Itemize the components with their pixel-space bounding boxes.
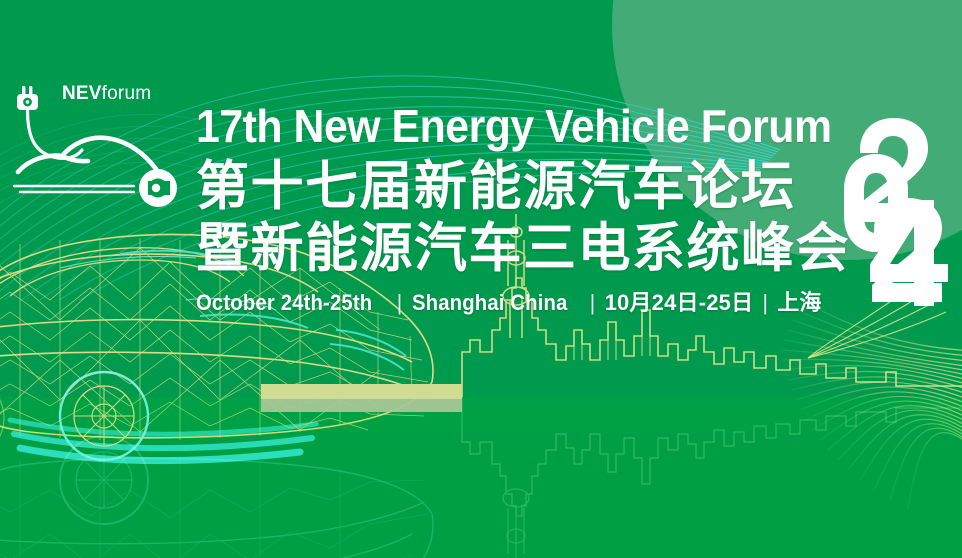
logo-word-light: forum <box>102 83 152 104</box>
speed-lines-icon <box>14 186 134 192</box>
headline-block: 17th New Energy Vehicle Forum 第十七届新能源汽车论… <box>196 100 846 316</box>
title-english: 17th New Energy Vehicle Forum <box>196 100 801 152</box>
event-banner: NEVforum 17th New Energy Vehicle Forum 第… <box>0 0 962 558</box>
location-english: Shanghai China <box>412 290 568 316</box>
event-info-line: October 24th-25th|Shanghai China|10月24日-… <box>196 290 846 316</box>
logo-wordmark: NEVforum <box>62 83 151 105</box>
ground-platform-bar <box>261 384 462 399</box>
water-tint-band <box>0 397 962 558</box>
logo-word-bold: NEV <box>62 83 102 104</box>
charging-cable-icon <box>28 110 83 158</box>
date-english: October 24th-25th <box>196 290 372 316</box>
wheel-icon <box>139 169 177 207</box>
date-chinese: 10月24日-25日 <box>605 290 754 316</box>
charging-plug-icon <box>17 86 38 110</box>
title-chinese-line-1: 第十七届新能源汽车论坛 <box>196 156 846 218</box>
year-2024-mark <box>838 106 958 314</box>
location-chinese: 上海 <box>777 290 821 316</box>
separator-1: | <box>388 290 412 315</box>
separator-2: | <box>581 290 605 315</box>
title-chinese-line-2: 暨新能源汽车三电系统峰会 <box>196 218 846 280</box>
separator-3: | <box>753 290 777 315</box>
ground-platform-bar-reflection <box>261 399 462 412</box>
